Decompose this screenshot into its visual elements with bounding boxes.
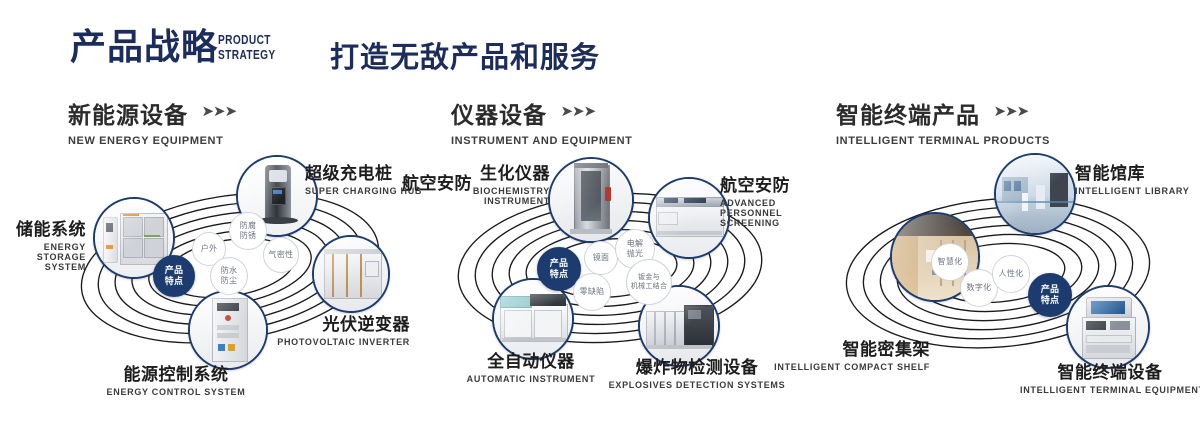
- page-title-english: PRODUCT STRATEGY: [218, 32, 276, 62]
- caption-cn: 全自动仪器: [443, 347, 619, 372]
- caption-energy-control-system: 能源控制系统 ENERGY CONTROL SYSTEM: [86, 360, 266, 397]
- caption-cn: 智能馆库: [1075, 159, 1189, 184]
- core-bubble-line2: 特点: [1041, 295, 1060, 306]
- caption-intelligent-library: 智能馆库 INTELLIGENT LIBRARY: [1075, 159, 1189, 196]
- node-photovoltaic-inverter[interactable]: [312, 235, 390, 313]
- caption-en: INTELLIGENT LIBRARY: [1075, 186, 1189, 196]
- feature-bubble-label: 防腐 防锈: [240, 221, 257, 241]
- core-bubble-line2: 特点: [165, 276, 184, 287]
- feature-bubble-label: 镜面: [593, 253, 610, 263]
- diagram-instrument: 生化仪器 BIOCHEMISTRY INSTRUMENT 航空安防 航空安防 A…: [430, 155, 790, 385]
- caption-en: ADVANCED PERSONNEL SCREENING: [720, 198, 830, 228]
- diagram-new-energy: 储能系统 ENERGY STORAGE SYSTEM 超级充电桩 SUPER C…: [60, 155, 410, 385]
- section-heading-instrument: 仪器设备 ➤➤➤ INSTRUMENT AND EQUIPMENT: [451, 96, 632, 147]
- caption-cn: 能源控制系统: [86, 360, 266, 385]
- chevron-right-icon: ➤➤➤: [560, 102, 595, 120]
- feature-bubble-anticorrosion[interactable]: 防腐 防锈: [229, 212, 267, 250]
- caption-advanced-personnel-screening: 航空安防 ADVANCED PERSONNEL SCREENING: [720, 171, 830, 228]
- feature-bubble-zero-defect[interactable]: 零缺陷: [573, 273, 611, 311]
- caption-cn: 光伏逆变器: [250, 310, 410, 335]
- node-intelligent-library[interactable]: [994, 153, 1076, 235]
- caption-aviation-security-left: 航空安防: [392, 169, 472, 194]
- caption-cn: 智能终端设备: [1020, 358, 1200, 383]
- feature-bubble-mirror-finish[interactable]: 镜面: [584, 241, 618, 275]
- caption-photovoltaic-inverter: 光伏逆变器 PHOTOVOLTAIC INVERTER: [250, 310, 410, 347]
- energy-control-system-photo: [190, 292, 266, 368]
- biochemistry-instrument-photo: [550, 159, 632, 241]
- caption-intelligent-terminal-equipment: 智能终端设备 INTELLIGENT TERMINAL EQUIPMENT: [1020, 358, 1200, 395]
- section-title-cn: 新能源设备: [68, 96, 188, 130]
- feature-bubble-label: 电解 抛光: [627, 239, 644, 259]
- caption-cn: 航空安防: [392, 169, 472, 194]
- feature-bubble-sheetmetal-machining[interactable]: 钣金与 机械工结合: [626, 259, 672, 305]
- feature-bubble-label: 零缺陷: [580, 287, 605, 297]
- caption-en: EXPLOSIVES DETECTION SYSTEMS: [602, 380, 792, 390]
- page-title-english-line1: PRODUCT: [218, 32, 276, 47]
- section-heading-new-energy: 新能源设备 ➤➤➤ NEW ENERGY EQUIPMENT: [68, 96, 236, 147]
- node-energy-control-system[interactable]: [188, 290, 268, 370]
- caption-cn: 智能密集架: [750, 335, 930, 360]
- feature-bubble-label: 智慧化: [938, 257, 963, 267]
- caption-cn: 航空安防: [720, 171, 830, 196]
- feature-bubble-label: 气密性: [269, 250, 294, 260]
- chevron-right-icon: ➤➤➤: [201, 102, 236, 120]
- caption-energy-storage-system: 储能系统 ENERGY STORAGE SYSTEM: [0, 215, 86, 272]
- feature-bubble-label: 户外: [201, 244, 218, 254]
- page-header: 产品战略 PRODUCT STRATEGY 打造无敌产品和服务: [0, 0, 1200, 90]
- feature-bubble-label: 人性化: [999, 269, 1024, 279]
- section-title-en: NEW ENERGY EQUIPMENT: [68, 135, 236, 147]
- section-title-en: INTELLIGENT TERMINAL PRODUCTS: [836, 135, 1050, 147]
- section-title-en: INSTRUMENT AND EQUIPMENT: [451, 135, 632, 147]
- chevron-right-icon: ➤➤➤: [993, 102, 1028, 120]
- caption-en: INTELLIGENT COMPACT SHELF: [750, 362, 930, 372]
- core-bubble-line1: 产品: [550, 258, 569, 269]
- core-bubble-line1: 产品: [1041, 284, 1060, 295]
- advanced-personnel-screening-photo: [650, 179, 728, 257]
- page-title: 产品战略: [70, 26, 218, 68]
- core-bubble-product-features[interactable]: 产品 特点: [1028, 273, 1072, 317]
- feature-bubble-label: 数字化: [967, 283, 992, 293]
- feature-bubble-waterproof[interactable]: 防水 防尘: [210, 257, 248, 295]
- section-title-cn: 仪器设备: [451, 96, 547, 130]
- caption-cn: 储能系统: [0, 215, 86, 240]
- photovoltaic-inverter-photo: [314, 237, 388, 311]
- page-title-english-line2: STRATEGY: [218, 47, 276, 62]
- caption-en: ENERGY STORAGE SYSTEM: [0, 242, 86, 272]
- caption-en: ENERGY CONTROL SYSTEM: [86, 387, 266, 397]
- node-intelligent-terminal-equipment[interactable]: [1066, 285, 1150, 369]
- intelligent-terminal-equipment-photo: [1068, 287, 1148, 367]
- caption-intelligent-compact-shelf: 智能密集架 INTELLIGENT COMPACT SHELF: [750, 335, 930, 372]
- caption-automatic-instrument: 全自动仪器 AUTOMATIC INSTRUMENT: [443, 347, 619, 384]
- core-bubble-product-features[interactable]: 产品 特点: [153, 255, 195, 297]
- caption-en: AUTOMATIC INSTRUMENT: [443, 374, 619, 384]
- node-biochemistry-instrument[interactable]: [548, 157, 634, 243]
- feature-bubble-label: 防水 防尘: [221, 266, 238, 286]
- product-strategy-infographic: 产品战略 PRODUCT STRATEGY 打造无敌产品和服务 新能源设备 ➤➤…: [0, 0, 1200, 422]
- section-title-cn: 智能终端产品: [836, 96, 980, 130]
- feature-bubble-airtight[interactable]: 气密性: [263, 237, 299, 273]
- intelligent-library-photo: [996, 155, 1074, 233]
- page-subtitle: 打造无敌产品和服务: [330, 34, 600, 76]
- caption-en: INTELLIGENT TERMINAL EQUIPMENT: [1020, 385, 1200, 395]
- caption-en: PHOTOVOLTAIC INVERTER: [250, 337, 410, 347]
- core-bubble-line1: 产品: [165, 265, 184, 276]
- feature-bubble-humanized[interactable]: 人性化: [992, 255, 1030, 293]
- diagram-intelligent-terminal: 智能馆库 INTELLIGENT LIBRARY 智能密集架 INTELLIGE…: [820, 155, 1180, 385]
- section-heading-intelligent-terminal: 智能终端产品 ➤➤➤ INTELLIGENT TERMINAL PRODUCTS: [836, 96, 1050, 147]
- core-bubble-line2: 特点: [550, 269, 569, 280]
- feature-bubble-label: 钣金与 机械工结合: [631, 273, 668, 291]
- node-advanced-personnel-screening[interactable]: [648, 177, 730, 259]
